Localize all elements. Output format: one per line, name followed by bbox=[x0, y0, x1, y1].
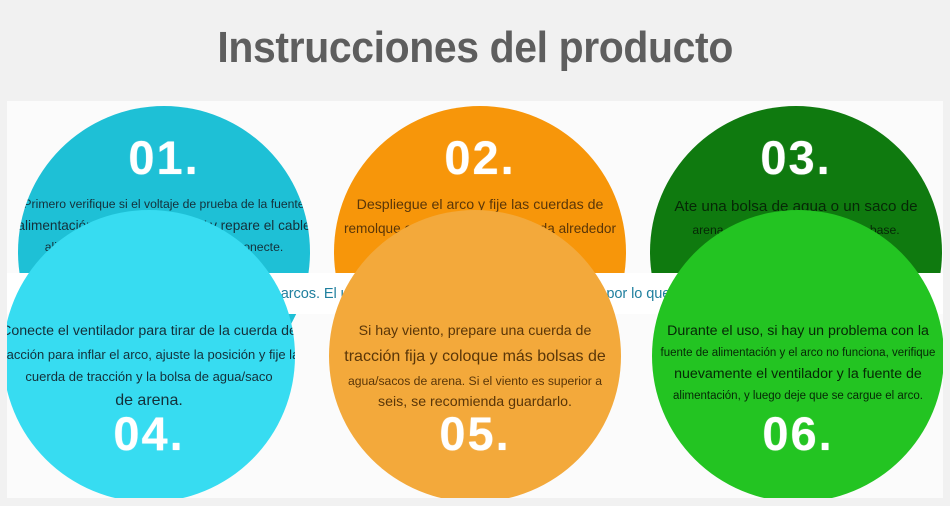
step-text-04: Conecte el ventilador para tirar de la c… bbox=[7, 320, 295, 414]
step-number-01: 01. bbox=[18, 130, 310, 185]
page-header: Instrucciones del producto bbox=[0, 0, 950, 96]
steps-row-bottom: Conecte el ventilador para tirar de la c… bbox=[7, 314, 943, 498]
step-04-line-3: cuerda de tracción y la bolsa de agua/sa… bbox=[7, 366, 295, 388]
instructions-panel: 01. Primero verifique si el voltaje de p… bbox=[7, 101, 943, 498]
step-circle-06: Durante el uso, si hay un problema con l… bbox=[652, 210, 943, 498]
step-text-06: Durante el uso, si hay un problema con l… bbox=[652, 320, 943, 406]
step-number-04: 04. bbox=[7, 406, 295, 461]
step-06-line-2: fuente de alimentación y el arco no func… bbox=[652, 344, 943, 363]
step-number-03: 03. bbox=[650, 130, 942, 185]
step-05-line-3: agua/sacos de arena. Si el viento es sup… bbox=[329, 371, 621, 392]
step-text-05: Si hay viento, prepare una cuerda de tra… bbox=[329, 320, 621, 415]
step-number-02: 02. bbox=[334, 130, 626, 185]
step-circle-04: Conecte el ventilador para tirar de la c… bbox=[7, 210, 295, 498]
product-instructions-page: Instrucciones del producto 01. Primero v… bbox=[0, 0, 950, 506]
step-05-line-2: tracción fija y coloque más bolsas de bbox=[329, 344, 621, 371]
step-number-06: 06. bbox=[652, 406, 943, 461]
step-05-line-1: Si hay viento, prepare una cuerda de bbox=[329, 320, 621, 344]
step-06-line-1: Durante el uso, si hay un problema con l… bbox=[652, 320, 943, 344]
step-number-05: 05. bbox=[329, 406, 621, 461]
step-06-line-4: alimentación, y luego deje que se cargue… bbox=[652, 387, 943, 406]
step-circle-05: Si hay viento, prepare una cuerda de tra… bbox=[329, 210, 621, 498]
step-04-line-1: Conecte el ventilador para tirar de la c… bbox=[7, 320, 295, 344]
step-06-line-3: nuevamente el ventilador y la fuente de bbox=[652, 363, 943, 387]
step-04-line-2: tracción para inflar el arco, ajuste la … bbox=[7, 344, 295, 366]
page-title: Instrucciones del producto bbox=[217, 23, 733, 73]
